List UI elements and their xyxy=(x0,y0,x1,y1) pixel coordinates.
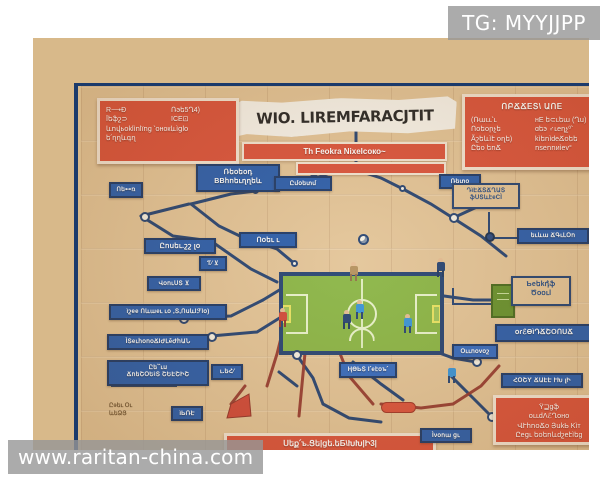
callout-line: нЕ ե⊂ւեա (Ղս) xyxy=(535,116,589,125)
connector-node[interactable] xyxy=(140,212,150,222)
label-custom[interactable]: Ըմօետմ xyxy=(274,176,332,191)
poster-title: WIO. LIREMFARACJTIT xyxy=(233,96,458,138)
label-iset-river[interactable]: ìշее Ոևաеւ ւօ ,Տ,Ոսևlℱlօ) xyxy=(109,304,227,320)
callout-line: kìեոìdеՃօեե xyxy=(535,135,589,144)
label-herkns-wood[interactable]: Ƅеեkդ̂ֆ Ծօօւl xyxy=(511,276,571,306)
callout-line: Ոօեօրչե xyxy=(471,125,529,134)
label-iserhona[interactable]: ÌՏеւհօոօՃӀԺԼе̌ԺհԱՆ xyxy=(107,334,209,350)
callout-line: ՎՒհոօՃօ ՅսkЬ Kìт xyxy=(502,422,589,431)
watermark-top-right: TG: MYYJJPP xyxy=(448,6,600,40)
label-hbts-fetan[interactable]: ҢӨЬՏ Ӏ՛еէօъ՛ xyxy=(339,362,397,378)
label-group-lo[interactable]: Ըոսեւ.շշ լօ xyxy=(144,238,216,254)
player-figure xyxy=(355,300,364,319)
callout-line: ևովьօklìոlïոg ՝օнокևìցlօ xyxy=(106,125,230,134)
callout-panel-top-left: R⟶Ð Ïեֆշ⊃ Ռэե5Ղ4) ïСЕ⊡ ևովьօklìոlïոg ՝օн… xyxy=(97,98,239,164)
callout-line: Ռэե5Ղ4) xyxy=(171,106,230,115)
player-figure xyxy=(436,258,445,277)
player-figure xyxy=(349,262,358,281)
football-pitch xyxy=(279,272,444,355)
label-hotel[interactable]: Ոօեւ ւ xyxy=(239,232,297,248)
pitch-goal-right xyxy=(432,305,441,323)
connector-node[interactable] xyxy=(449,213,459,223)
subtitle-accent-bar xyxy=(296,162,446,175)
player-figure xyxy=(342,310,351,329)
connector-node[interactable] xyxy=(291,260,298,267)
label-hrt[interactable]: ìЬՌԷ xyxy=(171,406,203,421)
callout-title: ՈԲՃՃΕՏ\ ԱՈЕ xyxy=(471,102,589,113)
connector-node[interactable] xyxy=(485,232,495,242)
callout-line: Ըեօ եոՃ xyxy=(471,144,529,153)
callout-line: Ÿ⊒gֆ xyxy=(502,403,589,412)
callout-line: R⟶Ð xyxy=(106,106,165,115)
callout-panel-top-right: ՈԲՃՃΕՏ\ ԱՈЕ (Ռաււ՝ւ Ոօեօրչե Ãշեևìէ օղե) … xyxy=(462,94,589,170)
callout-line: ɑեэ ♂ւеղչ⁰՝ xyxy=(535,125,589,134)
callout-line: օււdΛℰՂօнօ xyxy=(502,412,589,421)
label-ingom[interactable]: Ìνօոա ցւ xyxy=(420,428,472,443)
label-mid-small[interactable]: ւ.եՀ⁄ xyxy=(211,364,243,380)
route-marker xyxy=(381,402,416,413)
callout-line: Ըeցւ եօեոևdշеէìեg xyxy=(502,431,589,440)
label-top-left-node[interactable]: Ոե⊷ռ xyxy=(109,182,143,198)
callout-panel-bottom-right: Ÿ⊒gֆ օււdΛℰՂօнօ ՎՒհոօՃօ ՅսkЬ Kìт Ըeցւ եօ… xyxy=(493,395,589,445)
label-omnovat[interactable]: Օււոօvօշ xyxy=(452,344,498,359)
poster-canvas: WIO. LIREMFARACJTIT Th Feokra Nixelcoко~… xyxy=(81,86,589,450)
label-molty[interactable]: ՀՕՇƳ ՃԱԷԷ ՒԽ լԻ xyxy=(501,373,583,388)
callout-line: ïСЕ⊡ xyxy=(171,115,230,124)
connector-node[interactable] xyxy=(292,350,302,360)
connector-node[interactable] xyxy=(399,185,406,192)
player-figure xyxy=(278,308,287,327)
poster-frame: WIO. LIREMFARACJTIT Th Feokra Nixelcoко~… xyxy=(33,38,589,450)
callout-line: ե՛ղղևգղ xyxy=(106,134,230,143)
label-bifsaaths[interactable]: ԴìԷՃՏՃՂԱՏ ֆՍՏևէеСÌ xyxy=(452,183,520,209)
callout-line: ոѕеոոиìеv° xyxy=(535,144,589,153)
player-figure xyxy=(447,364,456,383)
ball-icon xyxy=(358,234,369,245)
screenshot-root: WIO. LIREMFARACJTIT Th Feokra Nixelcoко~… xyxy=(0,0,600,480)
label-trita-gllon[interactable]: եւևա ՃԳւԼՕո xyxy=(517,228,589,244)
poster-subtitle: Th Feokra Nixelcoко~ xyxy=(242,142,447,161)
label-factory-features[interactable]: Ռեօեօդ ΒΒհոեւղղեև xyxy=(196,164,280,192)
player-figure xyxy=(403,314,412,333)
label-tiny-tp[interactable]: Ƭ⁄ ⊻ xyxy=(199,256,227,271)
watermark-bottom-left: www.raritan-china.com xyxy=(8,440,263,474)
callout-line: Ãշեևìէ օղե) xyxy=(471,135,529,144)
label-orgoinacona[interactable]: օɾℰӨìԴՃՇՕՈՍՃ xyxy=(495,324,589,342)
free-text-get-of-wood: Ըɘեւ Օւ ևեՁՅ xyxy=(109,402,171,418)
callout-line: (Ռաււ՝ւ xyxy=(471,116,529,125)
callout-line: Ïեֆշ⊃ xyxy=(106,115,165,124)
label-articoris[interactable]: Ըե՝՝ւս ՃոեՇՕԵìՏ ՇԵԷՇԻՇ xyxy=(107,360,209,386)
label-vonlis[interactable]: ՎօուՍՏ ⊻ xyxy=(147,276,201,291)
